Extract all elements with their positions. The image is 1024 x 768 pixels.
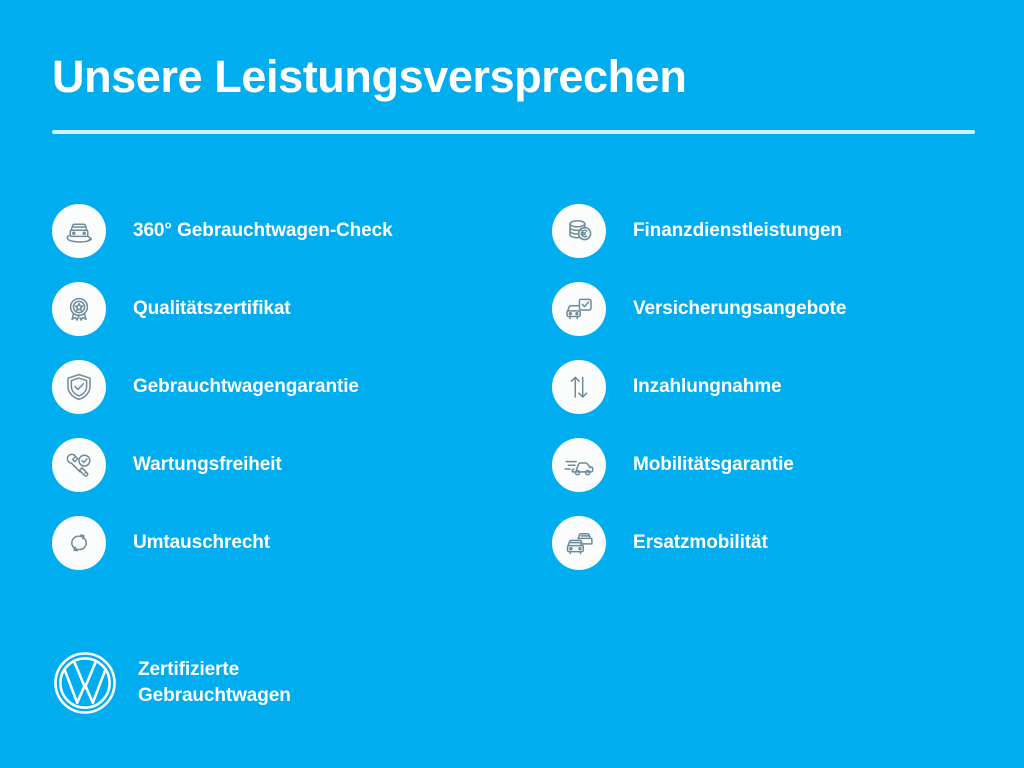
car-document-check-icon <box>552 282 606 336</box>
feature-label: Wartungsfreiheit <box>133 454 282 476</box>
feature-label: Mobilitätsgarantie <box>633 454 794 476</box>
feature-label: Inzahlungnahme <box>633 376 782 398</box>
feature-item-inzahlungnahme[interactable]: Inzahlungnahme <box>552 360 984 414</box>
poster-header: Unsere Leistungsversprechen <box>52 48 976 134</box>
up-down-arrows-icon <box>552 360 606 414</box>
brand-footer: Zertifizierte Gebrauchtwagen <box>52 650 291 716</box>
brand-line-2: Gebrauchtwagen <box>138 683 291 709</box>
shield-check-icon <box>52 360 106 414</box>
title-divider <box>52 130 975 134</box>
two-cars-icon <box>552 516 606 570</box>
feature-item-wartungsfreiheit[interactable]: Wartungsfreiheit <box>52 438 484 492</box>
feature-label: Ersatzmobilität <box>633 532 768 554</box>
brand-text: Zertifizierte Gebrauchtwagen <box>138 657 291 709</box>
feature-column-right: Finanzdienstleistungen Versicheru <box>552 204 984 570</box>
wrench-check-icon <box>52 438 106 492</box>
car-360-check-icon <box>52 204 106 258</box>
feature-item-versicherungsangebote[interactable]: Versicherungsangebote <box>552 282 984 336</box>
feature-label: Gebrauchtwagengarantie <box>133 376 359 398</box>
feature-item-finanzdienstleistungen[interactable]: Finanzdienstleistungen <box>552 204 984 258</box>
feature-label: Qualitätszertifikat <box>133 298 291 320</box>
feature-label: Versicherungsangebote <box>633 298 846 320</box>
feature-item-umtauschrecht[interactable]: Umtauschrecht <box>52 516 484 570</box>
coins-euro-icon <box>552 204 606 258</box>
feature-label: Finanzdienstleistungen <box>633 220 842 242</box>
award-rosette-icon <box>52 282 106 336</box>
feature-item-gebrauchtwagen-check[interactable]: 360° Gebrauchtwagen-Check <box>52 204 484 258</box>
feature-grid: 360° Gebrauchtwagen-Check Qualitätszerti… <box>52 204 984 570</box>
feature-item-gebrauchtwagengarantie[interactable]: Gebrauchtwagengarantie <box>52 360 484 414</box>
exchange-arrows-icon <box>52 516 106 570</box>
feature-item-mobilitaetsgarantie[interactable]: Mobilitätsgarantie <box>552 438 984 492</box>
feature-column-left: 360° Gebrauchtwagen-Check Qualitätszerti… <box>52 204 484 570</box>
brand-line-1: Zertifizierte <box>138 657 291 683</box>
page-title: Unsere Leistungsversprechen <box>52 48 976 106</box>
feature-label: Umtauschrecht <box>133 532 270 554</box>
promise-poster: Unsere Leistungsversprechen <box>0 0 1024 768</box>
feature-item-ersatzmobilitaet[interactable]: Ersatzmobilität <box>552 516 984 570</box>
car-motion-icon <box>552 438 606 492</box>
volkswagen-logo-icon <box>52 650 118 716</box>
feature-item-qualitaetszertifikat[interactable]: Qualitätszertifikat <box>52 282 484 336</box>
feature-label: 360° Gebrauchtwagen-Check <box>133 220 393 242</box>
